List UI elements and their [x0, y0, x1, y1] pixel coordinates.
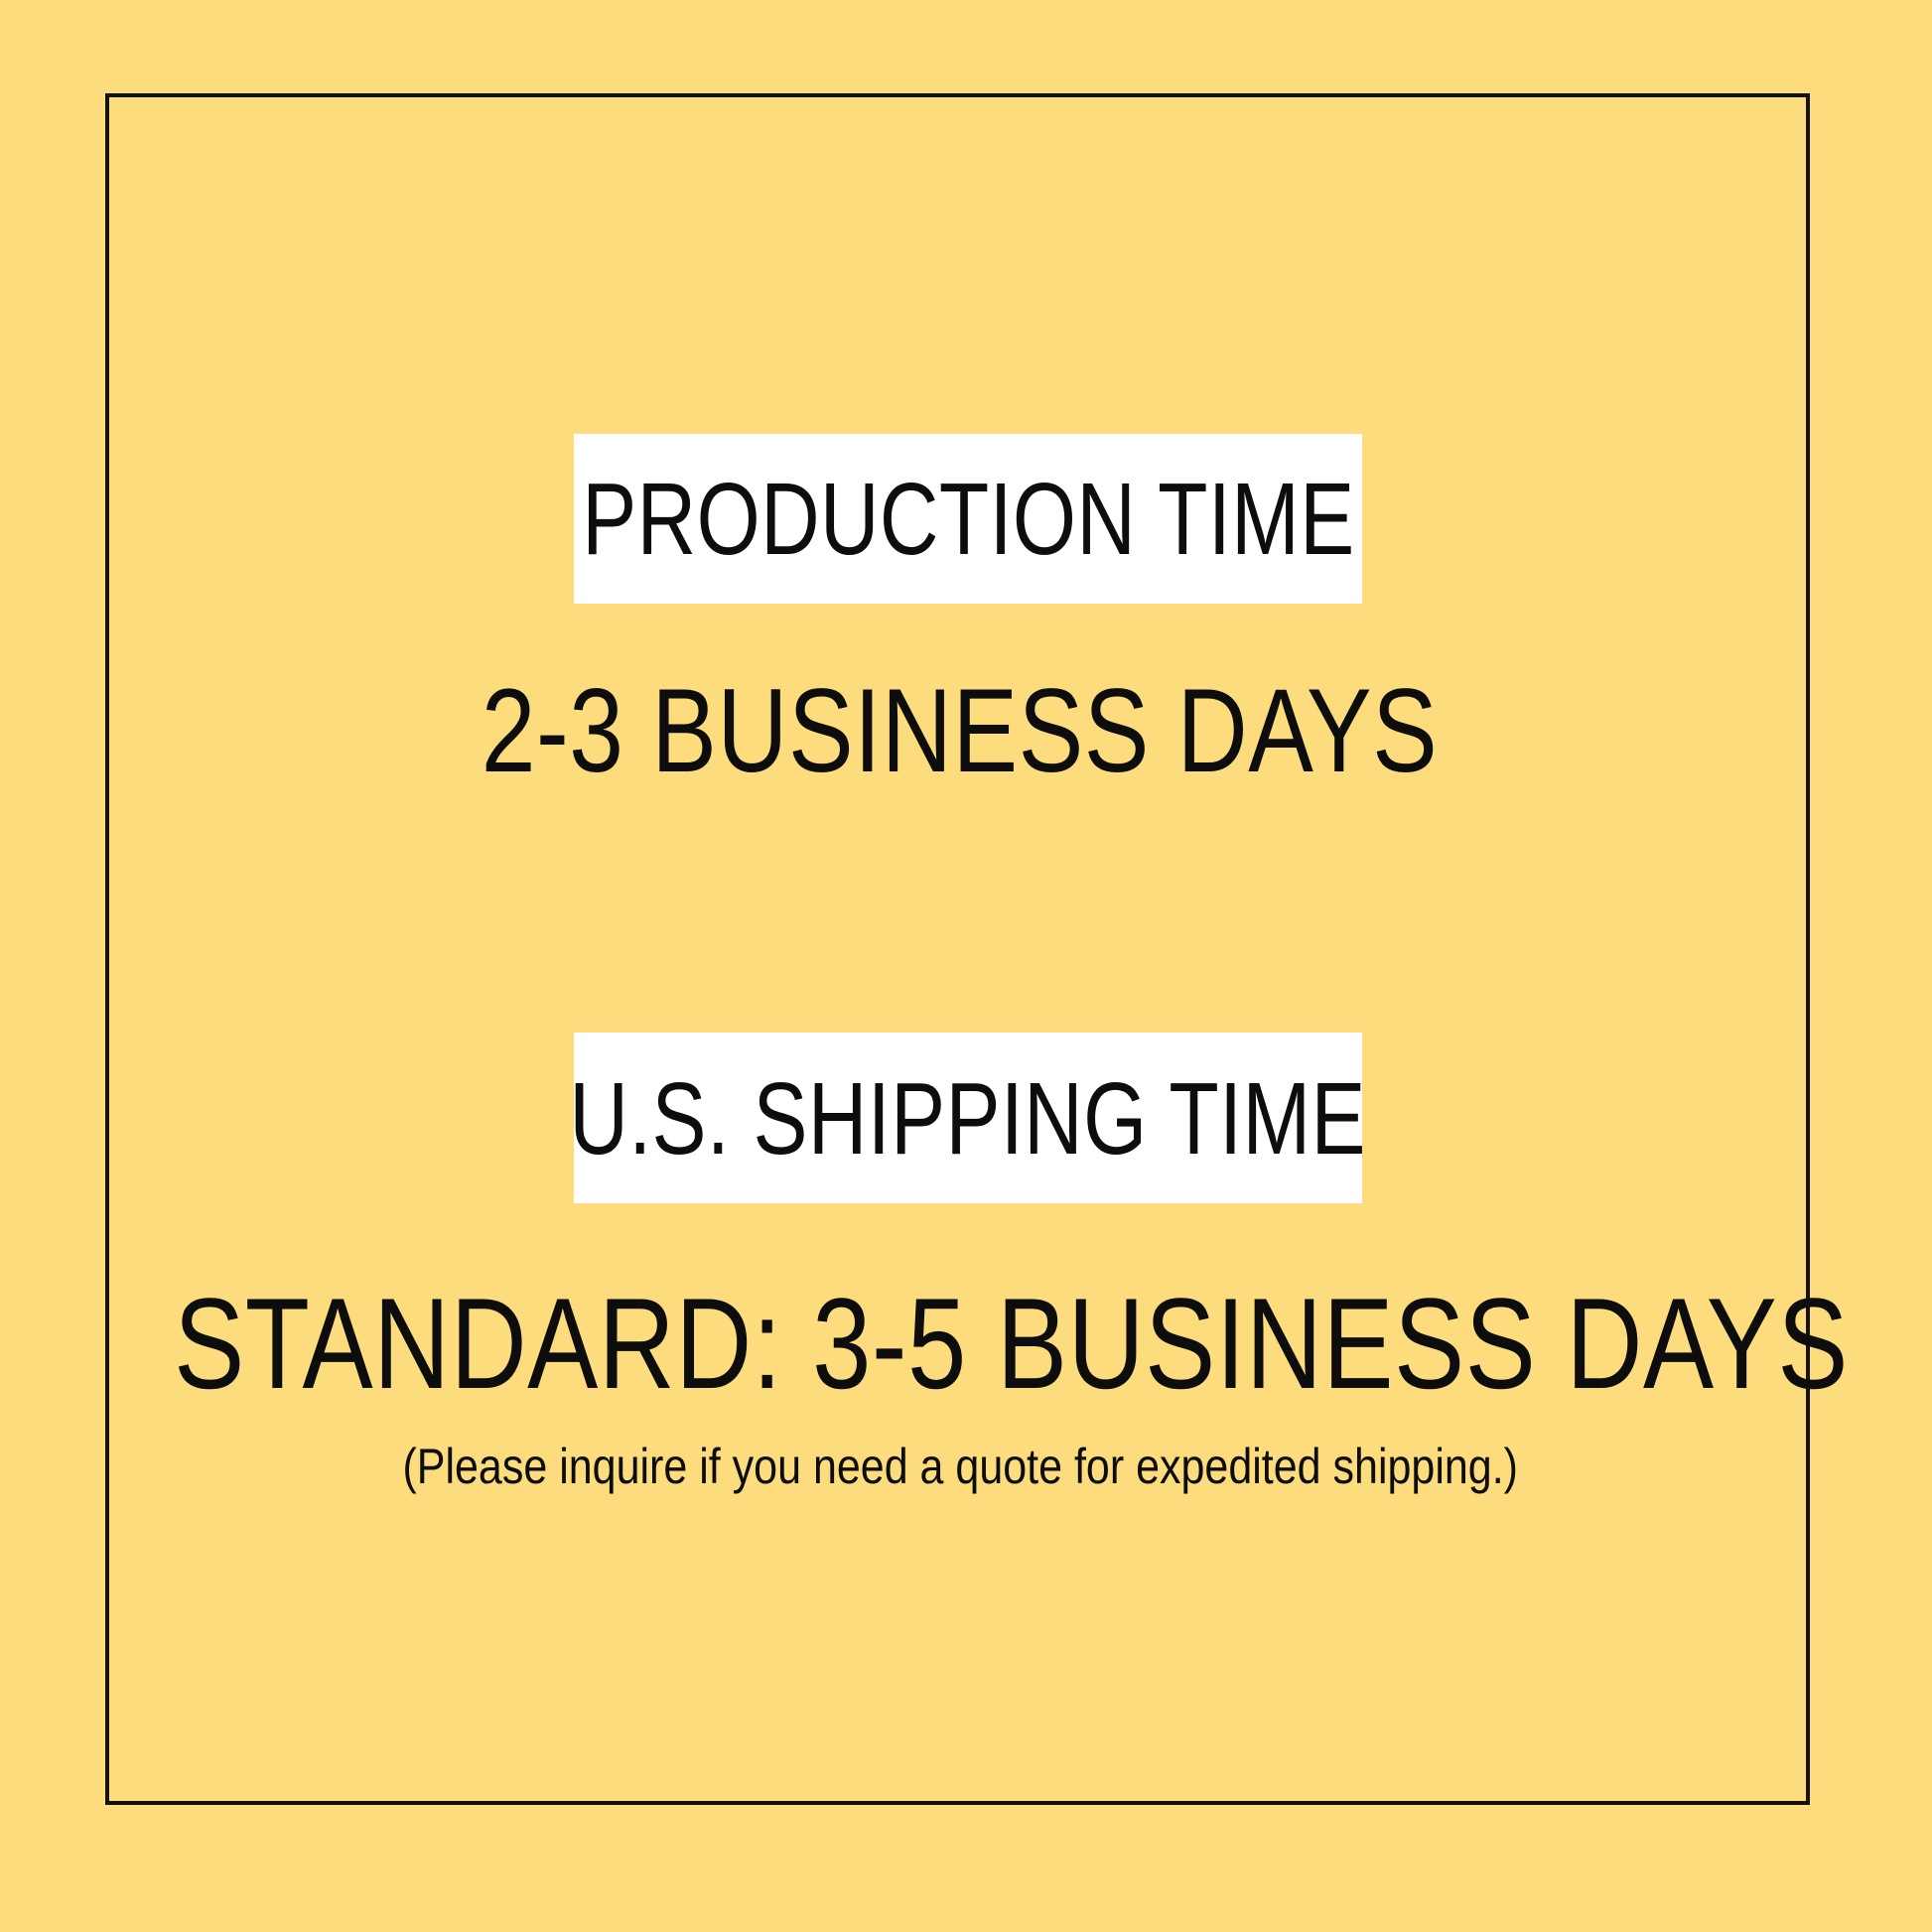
shipping-info-poster: PRODUCTION TIME 2-3 BUSINESS DAYS U.S. S…	[0, 0, 1932, 1932]
us-shipping-time-label-plate: U.S. SHIPPING TIME	[574, 1033, 1362, 1203]
us-shipping-time-label: U.S. SHIPPING TIME	[570, 1067, 1367, 1170]
expedited-shipping-note-row: (Please inquire if you need a quote for …	[0, 1442, 1932, 1491]
production-time-label-plate: PRODUCTION TIME	[574, 434, 1362, 604]
poster-border-frame	[105, 93, 1810, 1805]
production-time-label: PRODUCTION TIME	[582, 468, 1354, 570]
us-shipping-time-value-row: STANDARD: 3-5 BUSINESS DAYS	[0, 1279, 1932, 1408]
expedited-shipping-note: (Please inquire if you need a quote for …	[402, 1442, 1518, 1491]
production-time-value: 2-3 BUSINESS DAYS	[482, 671, 1439, 790]
us-shipping-time-value: STANDARD: 3-5 BUSINESS DAYS	[174, 1279, 1849, 1408]
production-time-value-row: 2-3 BUSINESS DAYS	[0, 671, 1932, 790]
